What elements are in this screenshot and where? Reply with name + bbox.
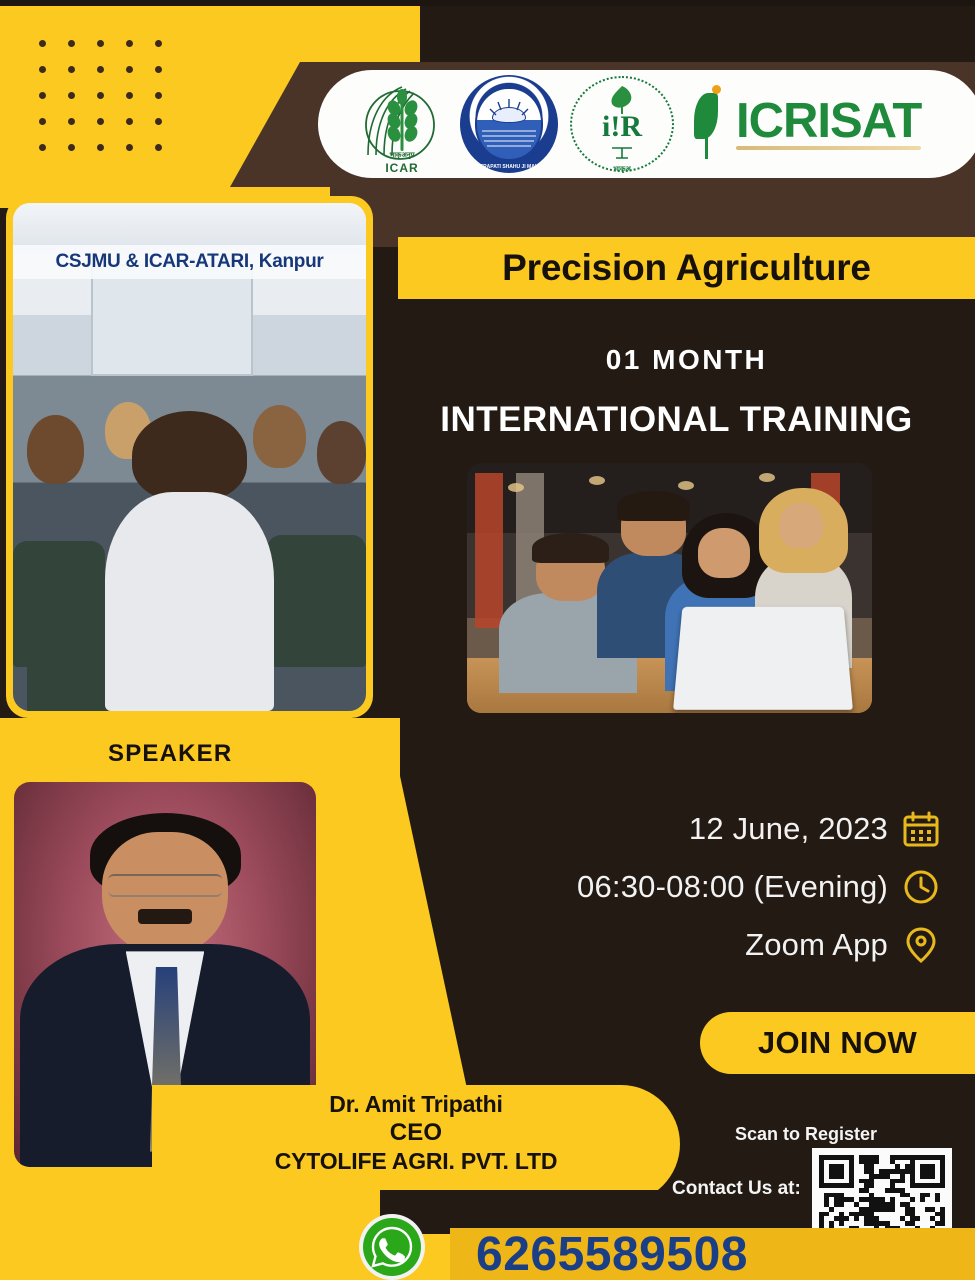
- organizer-logo-bar: भाकृअनुप ICAR: [318, 70, 975, 178]
- clock-icon: [902, 868, 940, 906]
- duration-label: 01 MONTH: [398, 344, 975, 376]
- detail-row-venue: Zoom App: [500, 916, 940, 974]
- speaker-company: CYTOLIFE AGRI. PVT. LTD: [152, 1148, 680, 1175]
- phone-number: 6265589508: [476, 1227, 748, 1280]
- icar-logo: भाकृअनुप ICAR: [354, 75, 450, 173]
- speaker-role: CEO: [152, 1119, 680, 1147]
- event-venue: Zoom App: [745, 927, 888, 963]
- icrisat-mark-icon: [686, 85, 732, 163]
- detail-row-date: 12 June, 2023: [500, 800, 940, 858]
- program-title-band: Precision Agriculture: [398, 237, 975, 299]
- page-title: Precision Agriculture: [502, 247, 871, 289]
- csjmu-ring-text: CHHATRAPATI SHAHU JI MAHARAJ: [460, 164, 558, 170]
- conference-photo-caption: CSJMU & ICAR-ATARI, Kanpur: [13, 245, 366, 279]
- detail-row-time: 06:30-08:00 (Evening): [500, 858, 940, 916]
- icrisat-wordmark: ICRISAT: [736, 98, 921, 145]
- event-details-list: 12 June, 2023 06:30-08:00 (Evening): [500, 800, 940, 974]
- conference-photo: CSJMU & ICAR-ATARI, Kanpur: [13, 203, 366, 711]
- csjmu-seal: CHHATRAPATI SHAHU JI MAHARAJ: [460, 75, 558, 173]
- conference-photo-frame: CSJMU & ICAR-ATARI, Kanpur: [6, 196, 373, 718]
- poster-root: भाकृअनुप ICAR: [0, 0, 975, 1280]
- icar-hindi-label: भाकृअनुप: [354, 151, 450, 160]
- iipr-hindi-label: भाकृअ: [568, 165, 676, 174]
- location-pin-icon: [902, 926, 940, 964]
- csjmu-logo: CHHATRAPATI SHAHU JI MAHARAJ: [460, 75, 558, 173]
- whatsapp-icon[interactable]: [357, 1212, 427, 1280]
- iipr-logo: i!R भाकृअ: [568, 74, 676, 174]
- speaker-name-card: Dr. Amit Tripathi CEO CYTOLIFE AGRI. PVT…: [152, 1085, 680, 1203]
- join-now-button[interactable]: JOIN NOW: [700, 1012, 975, 1074]
- icar-acronym: ICAR: [354, 161, 450, 175]
- students-photo: [467, 463, 872, 713]
- scan-to-register-label: Scan to Register: [735, 1124, 877, 1145]
- conference-caption-text: CSJMU & ICAR-ATARI, Kanpur: [55, 251, 323, 272]
- join-now-label: JOIN NOW: [758, 1025, 917, 1061]
- contact-us-label: Contact Us at:: [672, 1178, 801, 1200]
- speaker-section-label: SPEAKER: [108, 740, 232, 768]
- phone-number-band[interactable]: 6265589508: [450, 1228, 975, 1280]
- speaker-name: Dr. Amit Tripathi: [152, 1091, 680, 1118]
- dot-grid-decoration: [28, 30, 173, 160]
- calendar-icon: [902, 810, 940, 848]
- top-dark-strip: [0, 0, 975, 6]
- event-date: 12 June, 2023: [689, 811, 888, 847]
- svg-text:i!R: i!R: [602, 110, 642, 143]
- icrisat-logo: ICRISAT: [686, 75, 921, 173]
- event-time: 06:30-08:00 (Evening): [577, 869, 888, 905]
- program-type-label: INTERNATIONAL TRAINING: [378, 400, 975, 440]
